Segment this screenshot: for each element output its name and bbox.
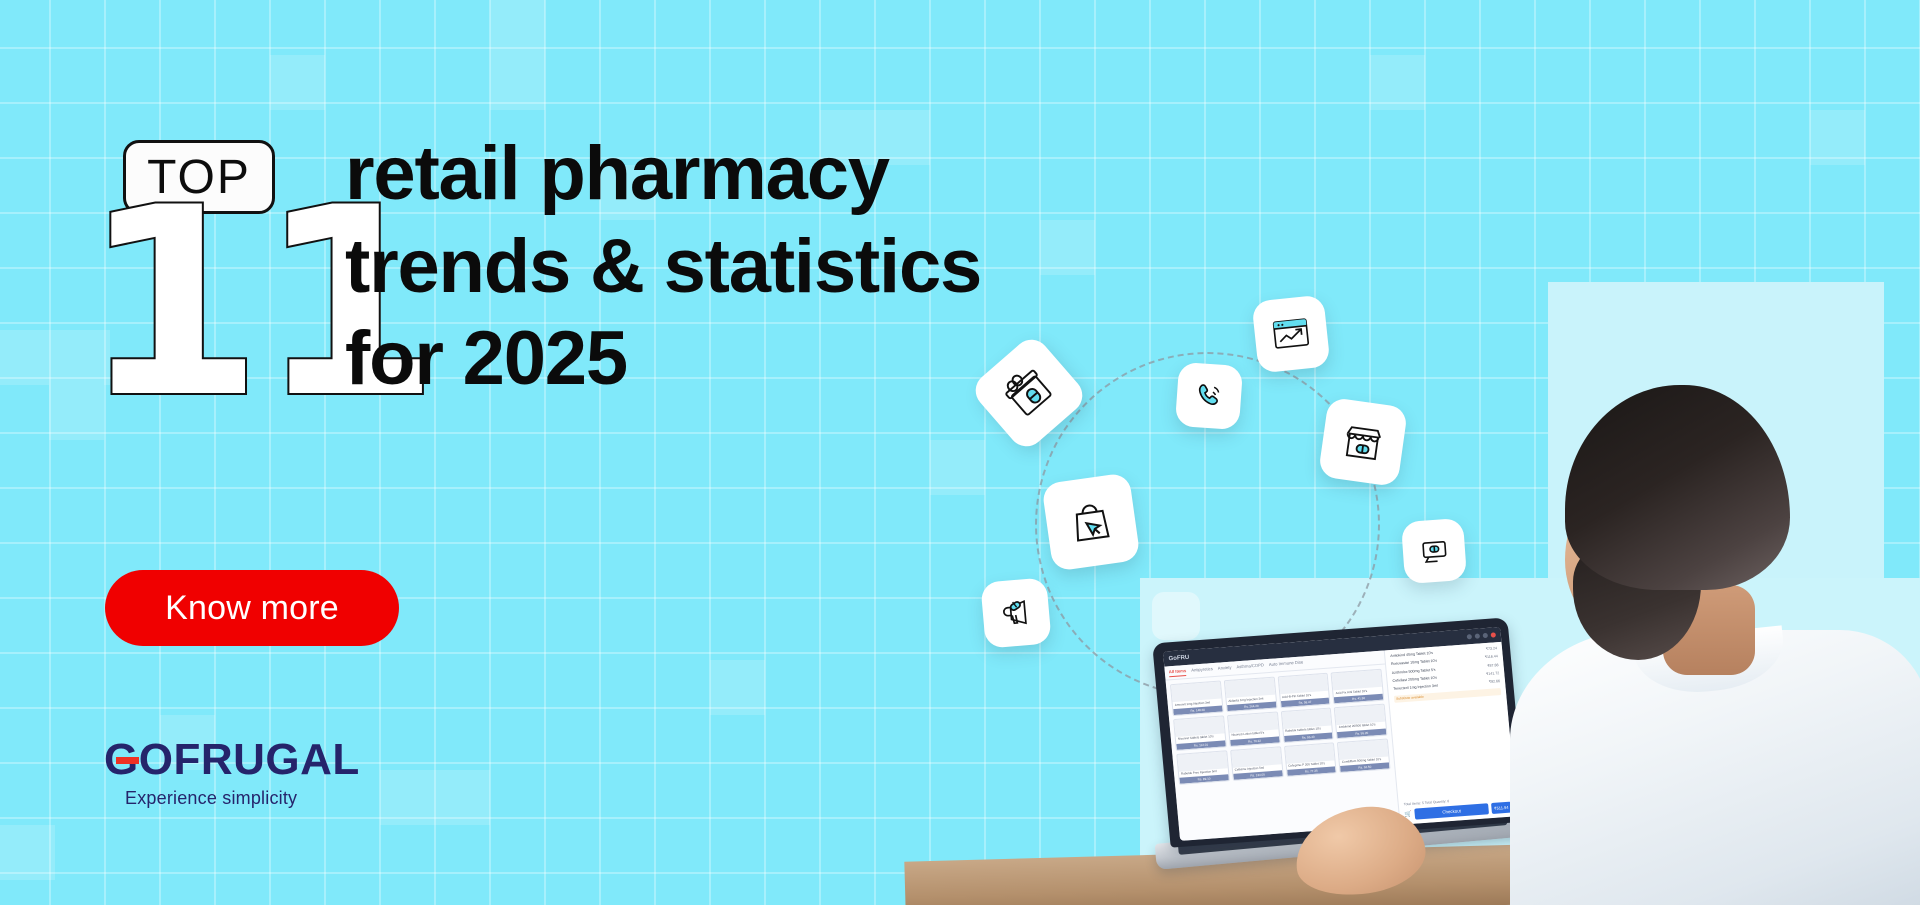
- promo-banner: TOP 11 retail pharmacy trends & statisti…: [0, 0, 1920, 905]
- cart-item-price: ₹73.24: [1486, 646, 1498, 651]
- cart-pay-amount: ₹511.94: [1491, 802, 1512, 814]
- shopping-bag-cursor-icon: [1041, 472, 1140, 571]
- filter-icon[interactable]: [1475, 633, 1480, 638]
- pharmacy-store-icon: [1318, 397, 1408, 487]
- cart-item-price: ₹116.44: [1485, 654, 1498, 659]
- bg-block: [1370, 55, 1425, 110]
- bg-block: [380, 770, 490, 825]
- cart-item-price: ₹92.66: [1489, 679, 1501, 684]
- pos-app-screen: GoFRU All Items Antipyretics Anxiety: [1163, 627, 1517, 841]
- cart-item-name: Cefixilast 200mg Tablet 10's: [1392, 676, 1437, 684]
- logo-accent-dash: [116, 757, 139, 764]
- user-icon[interactable]: [1483, 633, 1488, 638]
- product-card[interactable]: Rabelok Tablets tablet 10'sRs. 96.40: [1280, 707, 1333, 742]
- product-card[interactable]: Amlokind 20/500 tablet 10'sRs. 55.20: [1334, 703, 1387, 738]
- cart-item-name: Azithrolox 500mg Tablet 5's: [1392, 667, 1436, 675]
- megaphone-pill-icon: [980, 577, 1052, 649]
- bg-block: [930, 440, 985, 495]
- tab-asthma-copd[interactable]: Asthma/COPD: [1236, 662, 1264, 672]
- tab-anxiety[interactable]: Anxiety: [1218, 665, 1232, 674]
- logo-text: GOFRUGAL: [104, 735, 360, 784]
- tab-auto-immune[interactable]: Auto Immune Dise: [1269, 659, 1304, 669]
- logo-wordmark: GOFRUGAL: [104, 735, 364, 785]
- bg-block: [710, 660, 765, 715]
- person-illustration: [1545, 385, 1920, 905]
- checkout-button[interactable]: Checkout: [1415, 803, 1489, 819]
- product-card[interactable]: Acid-B-Pin Tablet 10'sRs. 58.47: [1277, 673, 1330, 708]
- headline-line-2: trends & statistics: [345, 221, 1245, 314]
- app-brand-name: GoFRU: [1168, 654, 1189, 661]
- know-more-button[interactable]: Know more: [105, 570, 399, 646]
- cart-item-price: ₹87.88: [1487, 663, 1499, 668]
- brand-logo: GOFRUGAL Experience simplicity: [104, 735, 364, 809]
- bg-block: [0, 825, 55, 880]
- cart-item-price: ₹141.72: [1486, 671, 1500, 676]
- person-hair: [1565, 385, 1790, 590]
- product-card[interactable]: Ameovit 1mg Injection 3mlRs. 148.60: [1170, 681, 1223, 716]
- search-icon[interactable]: [1467, 634, 1472, 639]
- mobile-pill-icon: [1401, 518, 1467, 584]
- notification-icon[interactable]: [1491, 632, 1496, 637]
- product-card[interactable]: Combiflam 500mg Tablet 10'sRs. 62.50: [1337, 738, 1390, 773]
- bg-block: [490, 0, 545, 110]
- toolbar-icons: [1467, 632, 1496, 639]
- product-card[interactable]: Cefixime Injection 5mlRs. 134.00: [1230, 746, 1283, 781]
- product-card[interactable]: Cefepime-P 200 Tablet 10'sRs. 77.35: [1283, 742, 1336, 777]
- product-card[interactable]: Acid Fix Anti Tablet 10'sRs. 41.30: [1331, 669, 1384, 704]
- headline-line-1: retail pharmacy: [345, 128, 1245, 221]
- tab-all-items[interactable]: All Items: [1169, 668, 1187, 677]
- product-card[interactable]: Nicorest Tablets tablet 10'sRs. 112.01: [1173, 715, 1226, 750]
- cart-item-name: Tenecteril 1mg Injection 3ml: [1393, 684, 1438, 692]
- cart-pane: Amlokind 40mg Tablet 10's ₹73.24 Rosuvas…: [1384, 642, 1518, 825]
- logo-tagline: Experience simplicity: [125, 788, 364, 809]
- cart-item-name: Amlokind 40mg Tablet 10's: [1390, 651, 1433, 658]
- analytics-window-icon: [1251, 294, 1330, 373]
- bg-block: [1810, 110, 1865, 165]
- bg-block: [270, 55, 325, 110]
- cart-item-name: Rosuvastar 10mg Tablet 10's: [1391, 659, 1437, 667]
- tab-antipyretics[interactable]: Antipyretics: [1191, 666, 1213, 676]
- product-card[interactable]: Aldiacta 1mg Injection 2mlRs. 264.20: [1224, 677, 1277, 712]
- product-card[interactable]: Rabelok Free Injection 5mlRs. 89.10: [1176, 750, 1229, 785]
- product-card[interactable]: Nicorest Lotion tablet 5'sRs. 70.22: [1227, 711, 1280, 746]
- app-body: All Items Antipyretics Anxiety Asthma/CO…: [1164, 642, 1517, 841]
- phone-call-icon: [1175, 362, 1243, 430]
